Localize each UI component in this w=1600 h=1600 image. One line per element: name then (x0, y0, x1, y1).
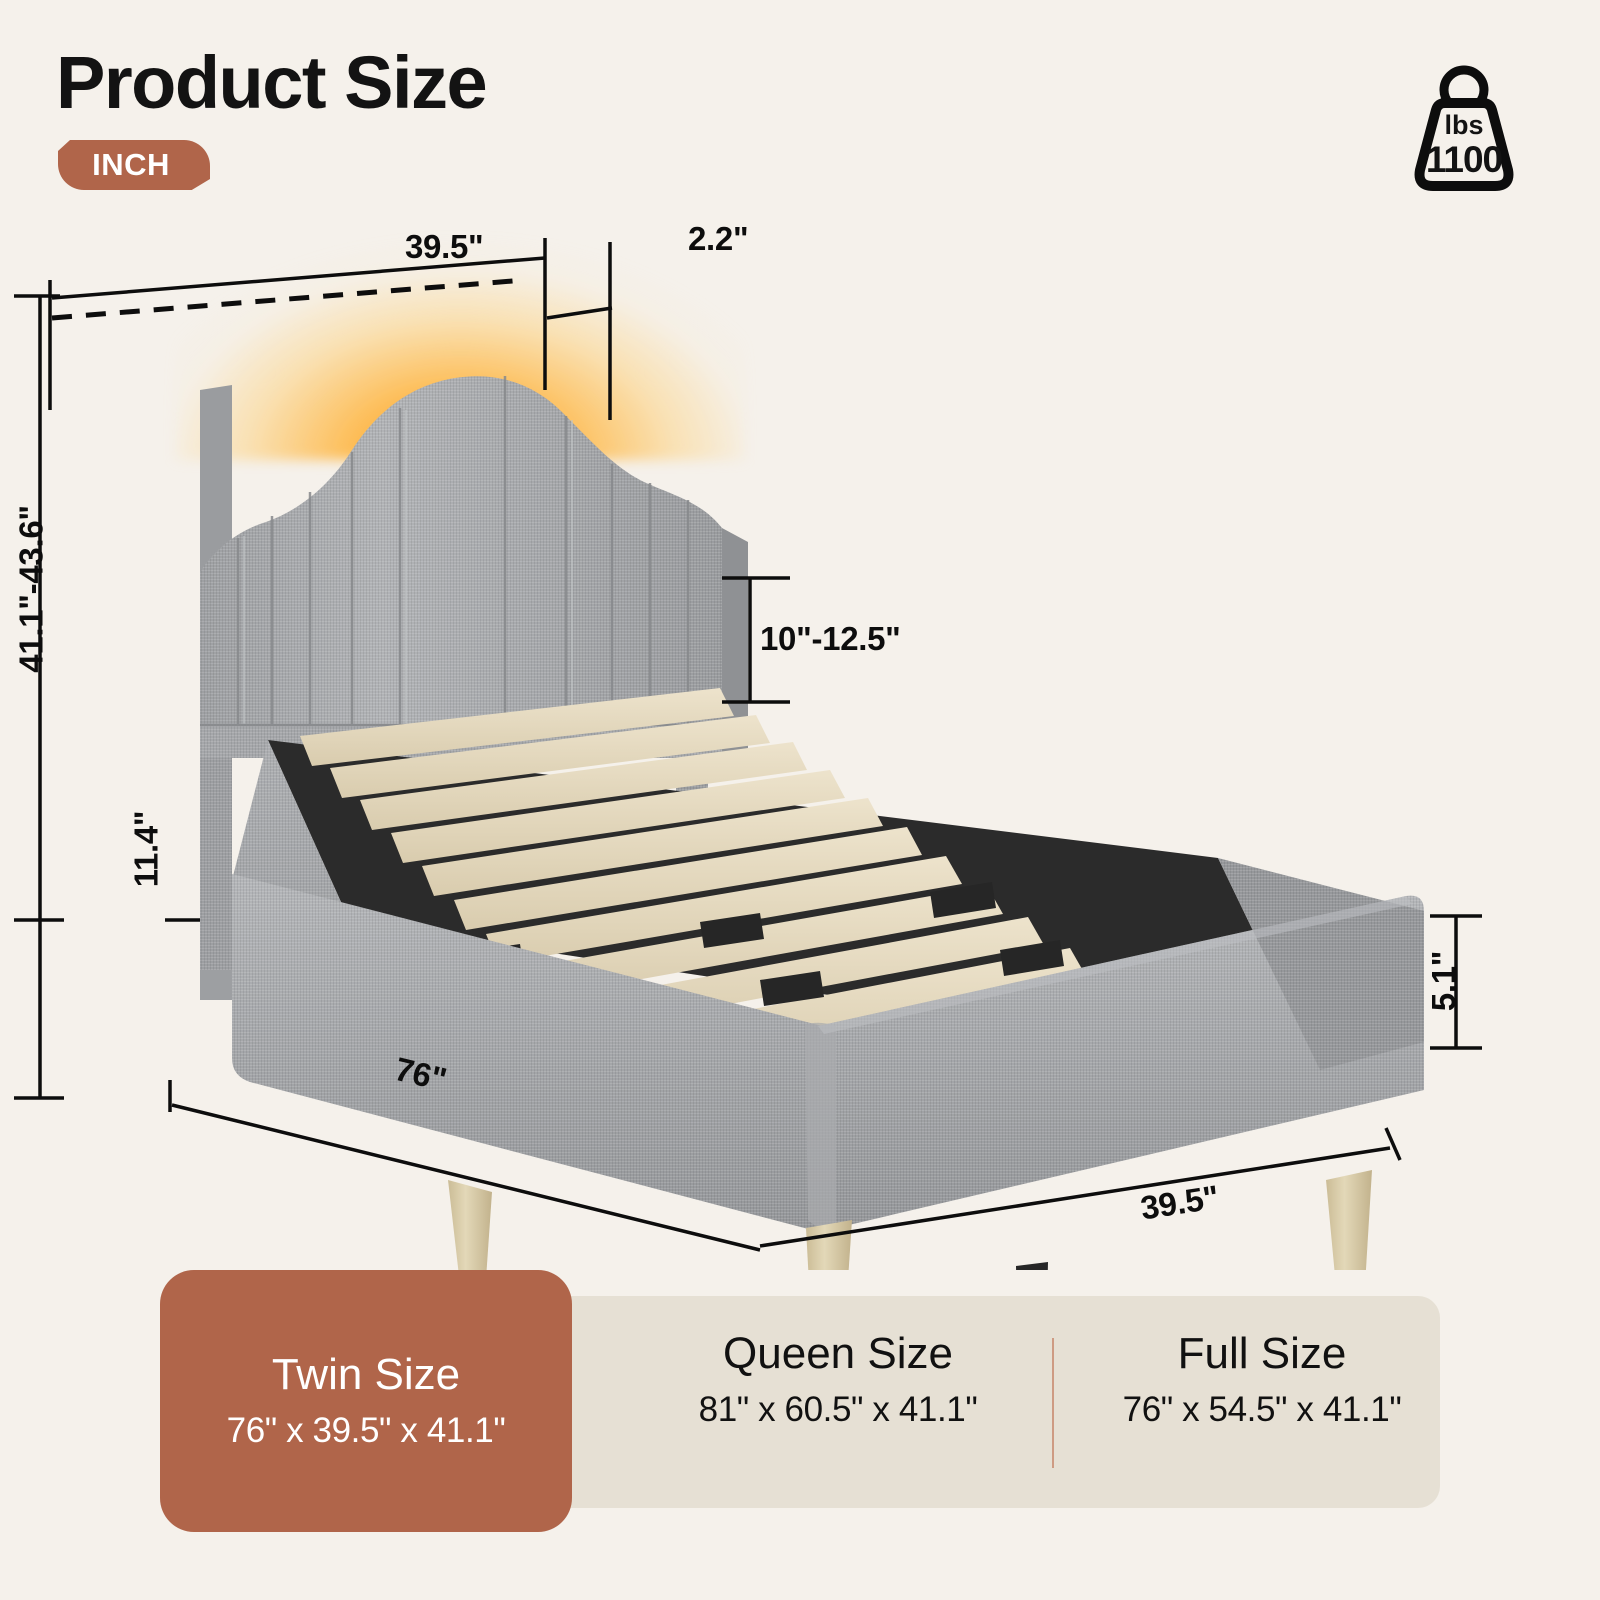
unit-badge-label: INCH (92, 147, 176, 183)
dimension-label-under-bed-clearance: 11.4" (127, 811, 165, 888)
size-option-twin-dims: 76" x 39.5" x 41.1" (227, 1411, 506, 1451)
size-divider (1052, 1338, 1054, 1468)
bed-drawing (0, 180, 1600, 1270)
dimension-label-headboard-clearance: 10"-12.5" (760, 620, 901, 658)
product-size-infographic: Product Size INCH lbs 1100 (0, 0, 1600, 1600)
bed-base (232, 688, 1424, 1232)
dimension-label-headboard-width: 39.5" (405, 228, 483, 266)
size-option-full-title: Full Size (1178, 1330, 1347, 1378)
size-option-queen-title: Queen Size (723, 1330, 953, 1378)
dimension-label-headboard-thickness: 2.2" (688, 220, 748, 258)
size-option-twin-title: Twin Size (272, 1351, 460, 1399)
size-option-full[interactable]: Full Size 76" x 54.5" x 41.1" (1062, 1330, 1462, 1430)
weight-value-label: 1100 (1404, 141, 1524, 178)
weight-capacity-badge: lbs 1100 (1404, 62, 1524, 197)
size-option-twin[interactable]: Twin Size 76" x 39.5" x 41.1" (160, 1270, 572, 1532)
bed-illustration: 39.5" 2.2" 41.1"-43.6" 10"-12.5" 11.4" 5… (0, 180, 1600, 1270)
dimension-label-total-height: 41.1"-43.6" (13, 505, 51, 672)
size-option-queen[interactable]: Queen Size 81" x 60.5" x 41.1" (628, 1330, 1048, 1430)
dimension-label-frame-rail-height: 5.1" (1425, 951, 1463, 1011)
size-option-full-dims: 76" x 54.5" x 41.1" (1123, 1390, 1402, 1430)
page-title: Product Size (56, 46, 486, 120)
weight-unit-label: lbs (1404, 112, 1524, 139)
size-option-queen-dims: 81" x 60.5" x 41.1" (699, 1390, 978, 1430)
